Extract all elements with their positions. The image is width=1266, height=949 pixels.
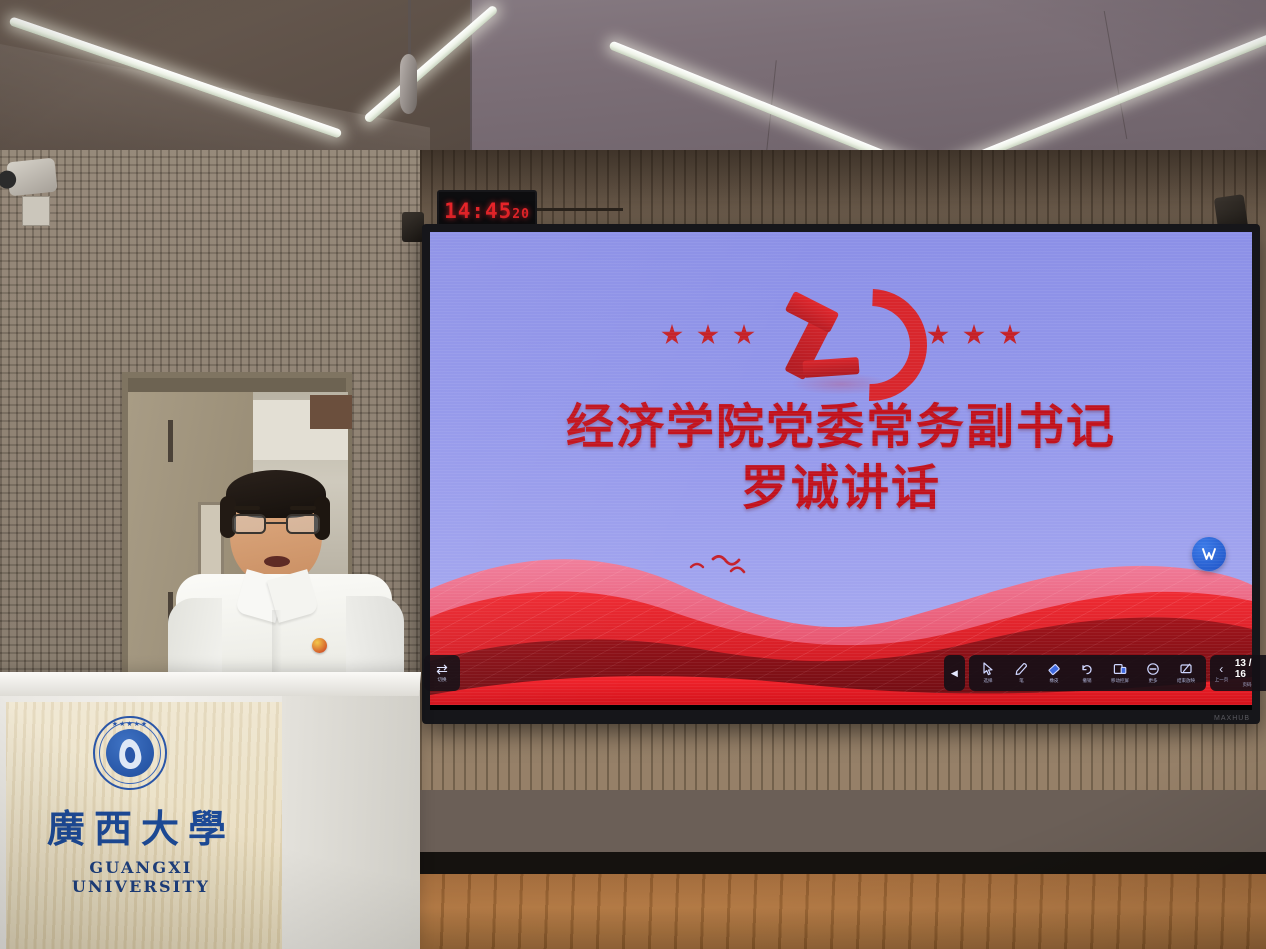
tool-eraser-label: 橡皮	[1050, 677, 1059, 683]
eraser-icon	[1047, 662, 1061, 676]
wall-speaker-icon	[402, 212, 424, 242]
presentation-toolbar[interactable]: ◀ 选择 笔 橡皮	[944, 655, 1266, 691]
switch-source-button[interactable]: ⇄ 切换	[424, 655, 460, 691]
display-brand-label: MAXHUB	[1214, 715, 1250, 722]
skirting-board	[420, 852, 1266, 874]
slide-title-line2: 罗诚讲话	[430, 458, 1252, 519]
clock-mount-arm	[533, 208, 623, 211]
star-icon	[733, 324, 755, 346]
slide-title-line1: 经济学院党委常务副书记	[566, 399, 1116, 455]
pen-icon	[1014, 662, 1028, 676]
slide-page-indicator[interactable]: 13 / 16 页码	[1230, 658, 1264, 688]
eyebrow	[290, 506, 316, 510]
slide-emblem-row	[430, 280, 1252, 390]
eyebrow	[234, 506, 260, 510]
switch-label: 切换	[437, 676, 446, 682]
wps-floating-button[interactable]	[1192, 537, 1226, 571]
clock-seconds: 20	[512, 207, 530, 222]
university-emblem-icon: ★★★★★	[93, 716, 167, 790]
microphone-cable	[408, 0, 411, 58]
cursor-icon	[981, 662, 995, 676]
tool-select-label: 选择	[984, 677, 993, 683]
star-icon	[999, 324, 1021, 346]
corridor-cabinet	[310, 395, 352, 429]
page-label: 页码	[1242, 681, 1251, 687]
star-icon	[927, 324, 949, 346]
stars-right-group	[927, 324, 1021, 346]
conference-room-photo: 14:4520 MAXHUB	[0, 0, 1266, 949]
hanging-microphone	[400, 54, 417, 114]
tool-pen-label: 笔	[1019, 677, 1024, 683]
university-name-en: GUANGXI UNIVERSITY	[18, 858, 264, 896]
presentation-screen[interactable]: 经济学院党委常务副书记 罗诚讲话	[430, 232, 1252, 705]
mouth	[264, 556, 290, 567]
chevron-left-icon: ◀	[951, 668, 958, 679]
toolbar-collapse-button[interactable]: ◀	[944, 655, 965, 691]
tool-more-button[interactable]: 更多	[1137, 655, 1170, 691]
toolbar-tools-group: 选择 笔 橡皮 撤销	[969, 655, 1206, 691]
tool-end-show-button[interactable]: 结束放映	[1170, 655, 1203, 691]
tool-eraser-button[interactable]: 橡皮	[1038, 655, 1071, 691]
star-icon	[661, 324, 683, 346]
eyeglasses-icon	[230, 514, 322, 534]
lectern-top-edge	[0, 672, 421, 696]
chevron-left-icon: ‹	[1219, 663, 1223, 675]
party-badge-icon	[312, 638, 327, 653]
tool-end-show-label: 结束放映	[1177, 677, 1195, 683]
stars-left-group	[661, 324, 755, 346]
more-icon	[1146, 662, 1160, 676]
star-icon	[963, 324, 985, 346]
clock-time: 14:45	[444, 199, 512, 223]
page-number-display: 13 / 16	[1235, 658, 1259, 680]
tool-undo-button[interactable]: 撤销	[1071, 655, 1104, 691]
tool-pen-button[interactable]: 笔	[1005, 655, 1038, 691]
star-icon	[697, 324, 719, 346]
end-show-icon	[1179, 662, 1193, 676]
birds-decoration	[685, 553, 765, 579]
prev-slide-label: 上一页	[1214, 676, 1228, 682]
lens	[232, 514, 266, 534]
wall-socket[interactable]	[22, 196, 50, 226]
door-hinge	[168, 420, 173, 462]
tool-select-button[interactable]: 选择	[972, 655, 1005, 691]
hair	[226, 470, 326, 518]
slide-canvas: 经济学院党委常务副书记 罗诚讲话	[430, 232, 1252, 705]
university-name-cn: 廣西大學	[18, 798, 264, 853]
tool-mobile-control-button[interactable]: 移动控屏	[1104, 655, 1137, 691]
lectern-side-panel	[282, 690, 420, 949]
mobile-control-icon	[1113, 662, 1127, 676]
tool-mobile-control-label: 移动控屏	[1111, 677, 1129, 683]
tool-undo-label: 撤销	[1083, 677, 1092, 683]
slide-title: 经济学院党委常务副书记 罗诚讲话	[430, 397, 1252, 520]
prev-slide-button[interactable]: ‹ 上一页	[1213, 655, 1230, 691]
clock-display: 14:4520	[444, 199, 530, 223]
undo-icon	[1080, 662, 1094, 676]
hammer-and-sickle-icon	[781, 283, 901, 387]
toolbar-navigation-group: ‹ 上一页 13 / 16 页码 › 下一页	[1210, 655, 1266, 691]
glasses-bridge	[266, 522, 286, 524]
tool-more-label: 更多	[1149, 677, 1158, 683]
lens	[286, 514, 320, 534]
ceiling-camera-icon	[6, 158, 57, 197]
switch-icon: ⇄	[436, 663, 448, 675]
emblem-reflection	[791, 373, 891, 395]
